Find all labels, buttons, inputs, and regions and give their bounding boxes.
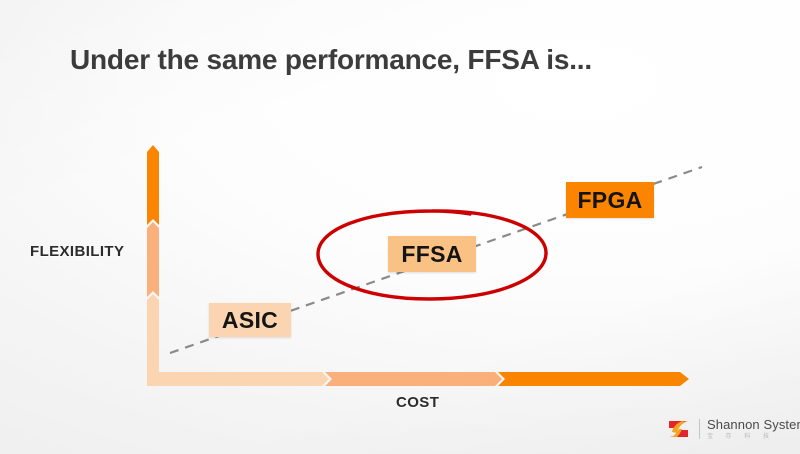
data-point-fpga: FPGA: [566, 182, 654, 218]
x-axis-segment-high: [498, 372, 689, 386]
x-axis-segment-mid: [325, 372, 502, 386]
y-axis-label: FLEXIBILITY: [30, 243, 124, 260]
chart-graphic: [0, 0, 800, 454]
logo-company-name: Shannon Systems: [707, 418, 800, 431]
axis-corner-joint: [147, 372, 159, 386]
x-axis-segment-low: [147, 372, 329, 386]
x-axis-label: COST: [396, 394, 439, 411]
y-axis-segment-high: [147, 145, 159, 225]
slide-canvas: Under the same performance, FFSA is...: [0, 0, 800, 454]
logo-text: Shannon Systems 宝 存 科 技: [707, 418, 800, 440]
shannon-logo-mark-icon: [666, 416, 692, 442]
y-axis-segment-mid: [147, 222, 159, 297]
logo-divider: [699, 419, 700, 439]
company-logo: Shannon Systems 宝 存 科 技: [666, 416, 800, 442]
data-point-asic: ASIC: [209, 303, 291, 337]
y-axis-segment-low: [147, 294, 159, 378]
data-point-ffsa: FFSA: [388, 236, 476, 272]
logo-subtext: 宝 存 科 技: [707, 434, 800, 440]
